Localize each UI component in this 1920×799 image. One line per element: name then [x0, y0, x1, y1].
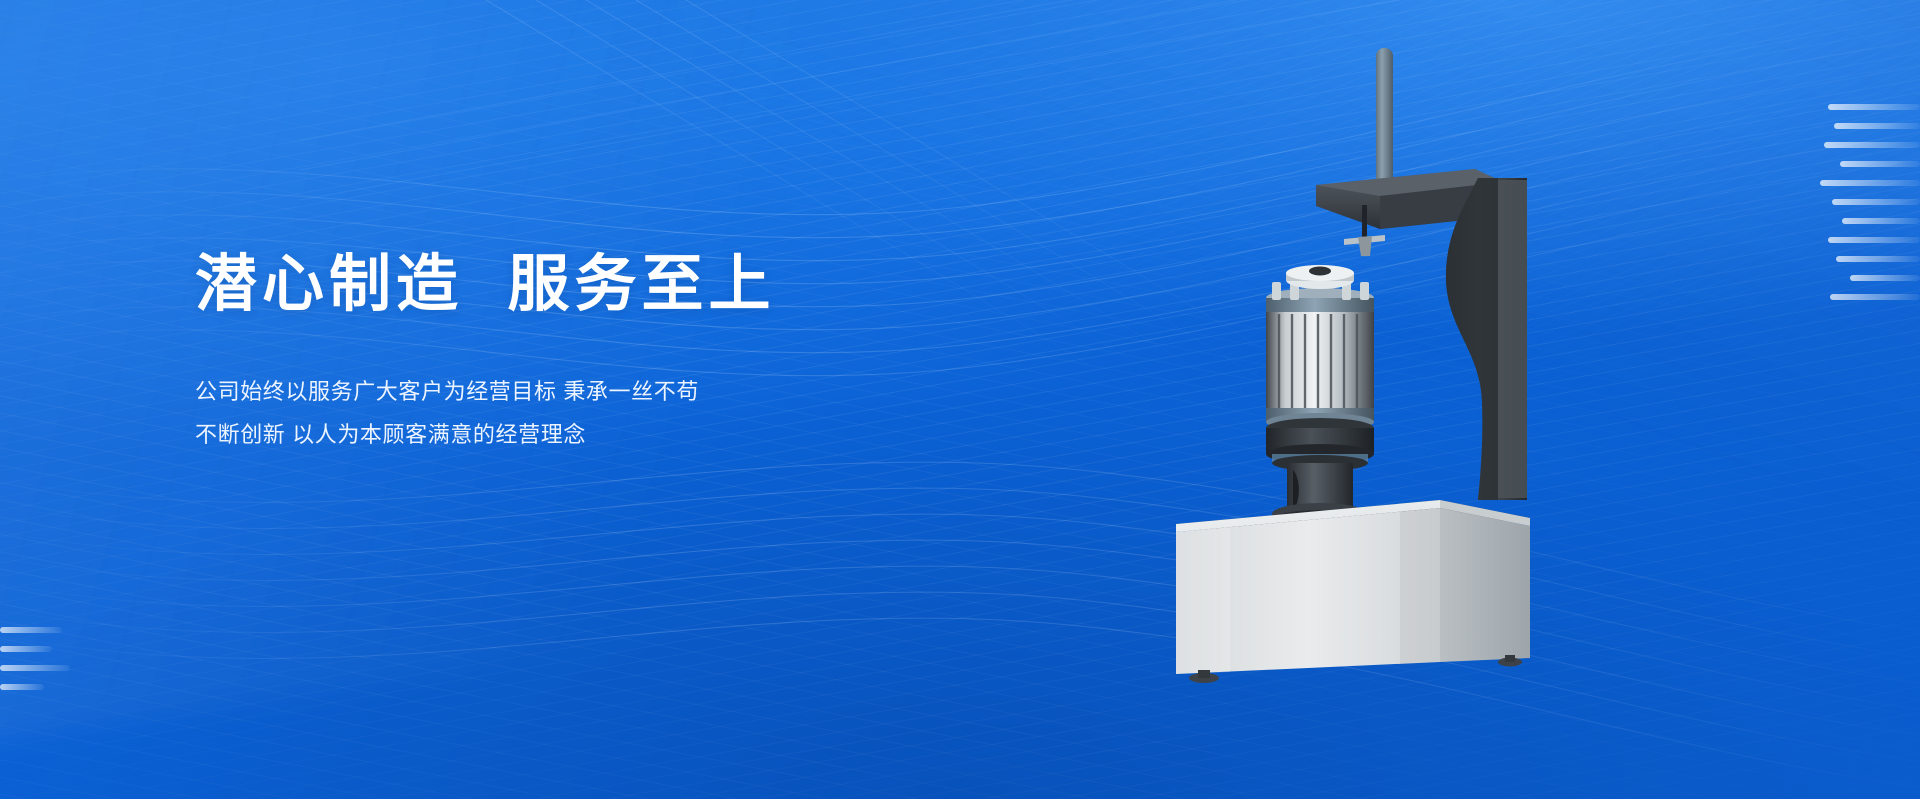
decor-tick — [1842, 218, 1920, 224]
machine-cabinet — [1176, 500, 1530, 674]
decor-tick — [1840, 161, 1920, 167]
decor-tick — [0, 684, 44, 690]
machine-vertical-rod — [1376, 48, 1393, 188]
machine-ribbed-cylinder — [1266, 265, 1374, 431]
hero-subtitle-line-2: 不断创新 以人为本顾客满意的经营理念 — [195, 414, 955, 457]
decor-ticks-left — [0, 627, 70, 703]
machine-curved-column — [1446, 178, 1527, 500]
decor-tick — [0, 646, 52, 652]
decor-ticks-right — [1820, 104, 1920, 313]
decor-tick — [1824, 142, 1920, 148]
hero-subtitle-line-1: 公司始终以服务广大客户为经营目标 秉承一丝不苟 — [195, 371, 955, 414]
decor-tick — [1828, 237, 1920, 243]
decor-tick — [1834, 123, 1920, 129]
decor-tick — [1830, 294, 1920, 300]
hero-copy: 潜心制造 服务至上 公司始终以服务广大客户为经营目标 秉承一丝不苟 不断创新 以… — [195, 248, 955, 457]
hero-subtitle: 公司始终以服务广大客户为经营目标 秉承一丝不苟 不断创新 以人为本顾客满意的经营… — [195, 371, 955, 457]
decor-tick — [0, 665, 70, 671]
decor-tick — [0, 627, 62, 633]
hero-headline: 潜心制造 服务至上 — [195, 248, 955, 321]
decor-tick — [1836, 256, 1920, 262]
hero-banner: 潜心制造 服务至上 公司始终以服务广大客户为经营目标 秉承一丝不苟 不断创新 以… — [0, 0, 1920, 799]
decor-tick — [1820, 180, 1920, 186]
decor-tick — [1828, 104, 1920, 110]
decor-tick — [1850, 275, 1920, 281]
decor-tick — [1832, 199, 1920, 205]
machine-illustration — [1080, 30, 1600, 690]
